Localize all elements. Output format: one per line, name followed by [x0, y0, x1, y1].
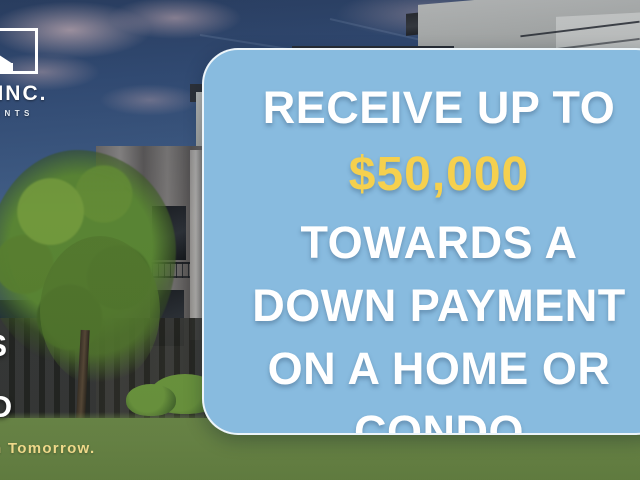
- offer-line-2: TOWARDS A: [226, 211, 640, 274]
- brand-logo[interactable]: Y INC. PMENTS: [0, 28, 124, 118]
- offer-card: RECEIVE UP TO $50,000 TOWARDS A DOWN PAY…: [202, 48, 640, 435]
- offer-line-5: CONDO: [226, 400, 640, 435]
- left-headline-line-3: AND: [0, 391, 164, 422]
- offer-line-3: DOWN PAYMENT: [226, 274, 640, 337]
- offer-amount: $50,000: [226, 139, 640, 211]
- left-headline-line-2: I: [0, 361, 164, 391]
- brand-tagline: oday. Own Tomorrow.: [0, 440, 95, 457]
- left-headline-line-1: EYS: [0, 330, 164, 361]
- promotional-banner: Y INC. PMENTS EYS I AND oday. Own Tomorr…: [0, 0, 640, 480]
- offer-line-4: ON A HOME OR: [226, 337, 640, 400]
- house-roof-shape: [0, 47, 13, 64]
- brand-name: Y INC.: [0, 82, 124, 106]
- offer-line-1: RECEIVE UP TO: [226, 76, 640, 139]
- offer-card-content: RECEIVE UP TO $50,000 TOWARDS A DOWN PAY…: [204, 50, 640, 435]
- house-base-shape: [0, 63, 13, 71]
- house-in-square-icon: [0, 28, 38, 74]
- left-headline: EYS I AND: [0, 330, 164, 422]
- brand-subtitle: PMENTS: [0, 109, 124, 118]
